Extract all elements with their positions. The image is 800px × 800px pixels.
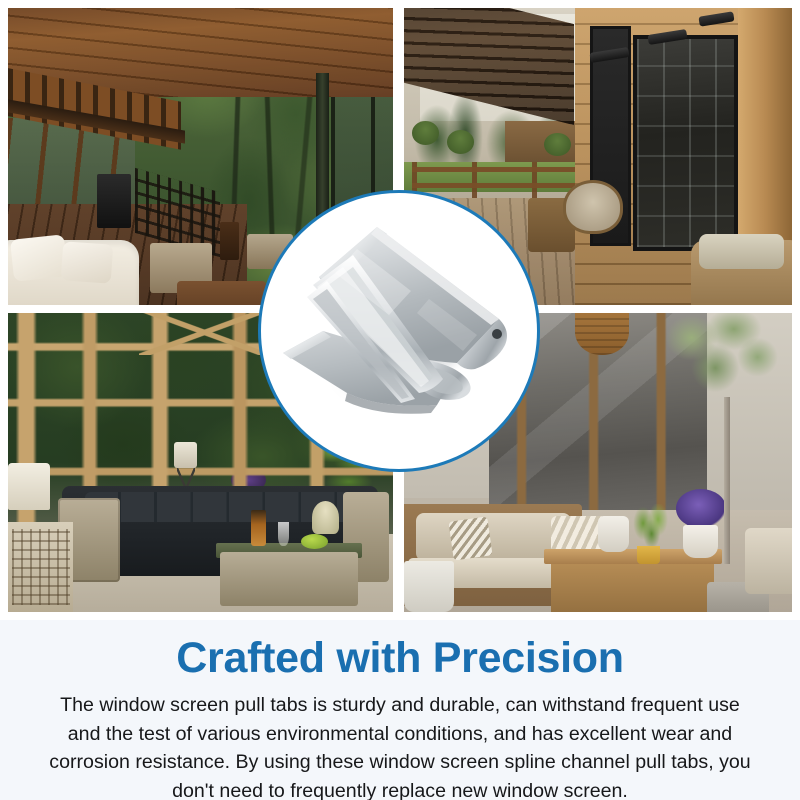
product-description: The window screen pull tabs is sturdy an… [42, 691, 758, 800]
floor-lamp-shade [174, 442, 197, 469]
sliding-door-main [633, 35, 738, 251]
flower-vase [312, 501, 339, 534]
page-title: Crafted with Precision [0, 620, 800, 681]
gable-truss [139, 313, 270, 355]
drinking-glass [278, 522, 290, 546]
sofa-cushion-left [10, 234, 68, 281]
barbecue-grill [97, 174, 132, 227]
ceramic-jug [598, 516, 629, 552]
hanging-basket-3 [544, 133, 571, 157]
table-lamp [8, 463, 50, 511]
rattan-pendant-lamp [575, 313, 629, 355]
armchair-right [745, 528, 792, 594]
wooden-coffee-table [177, 281, 266, 305]
papasan-chair [563, 180, 623, 234]
rattan-cabinet [8, 522, 73, 612]
purple-hydrangeas [676, 489, 726, 528]
text-panel: Crafted with Precision The window screen… [0, 620, 800, 800]
photo-grid [0, 0, 800, 620]
whisky-bottle [251, 510, 266, 546]
green-apples [301, 534, 328, 549]
yellow-planter [637, 546, 660, 564]
white-planter [683, 525, 718, 558]
planter-left [404, 561, 454, 612]
striped-pillow [448, 517, 492, 561]
wooden-coffee-table [551, 558, 714, 612]
olive-tree-trunk [724, 397, 730, 564]
table-plant [629, 504, 676, 552]
sofa-cushion-right [61, 241, 114, 283]
product-inset-circle [258, 190, 540, 472]
pull-tab-icon [261, 193, 537, 469]
hanging-basket-2 [447, 130, 474, 154]
sofa-cushions [699, 234, 784, 270]
lantern [220, 222, 239, 261]
hanging-basket-1 [412, 121, 439, 145]
wicker-coffee-table [220, 552, 359, 606]
product-marketing-image: Crafted with Precision The window screen… [0, 0, 800, 800]
olive-tree-right [652, 313, 784, 409]
